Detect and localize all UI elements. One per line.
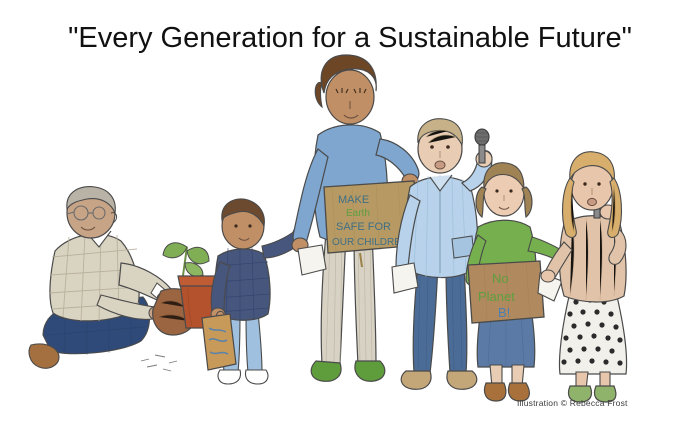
- girl-eye-right: [509, 189, 512, 192]
- boy-shoe-left: [218, 370, 240, 384]
- figure-woman-with-mic: [548, 150, 668, 405]
- girl-eye-left: [495, 189, 498, 192]
- big-placard-line2: Earth: [346, 208, 370, 219]
- boy-eye-right: [248, 224, 251, 227]
- adult-head: [326, 70, 374, 124]
- green-placard-line1: No: [492, 271, 509, 286]
- child-placard: [202, 311, 236, 370]
- man-eye-left: [430, 145, 434, 149]
- adult-shoe-left: [311, 361, 341, 381]
- page-title: "Every Generation for a Sustainable Futu…: [0, 22, 700, 55]
- boy-eye-left: [234, 224, 237, 227]
- poster: "Every Generation for a Sustainable Futu…: [0, 0, 700, 437]
- green-placard-line2: Planet: [478, 289, 515, 304]
- woman-eye-right: [597, 182, 600, 185]
- illustration-credit: Illustration © Rebecca Frost: [517, 398, 628, 408]
- big-placard-line1: MAKE: [338, 194, 369, 206]
- seedling-leaf-left: [163, 243, 187, 258]
- child-placard-board: [202, 314, 236, 370]
- man-shoe-left: [401, 371, 431, 389]
- woman-eye-left: [583, 182, 586, 185]
- adult-paper: [298, 245, 326, 275]
- boy-shoe-right: [246, 370, 268, 384]
- man-paper: [392, 263, 418, 293]
- man-mouth-open: [435, 161, 445, 169]
- adult-shoe-right: [355, 361, 385, 381]
- boy-leg-right: [246, 312, 262, 372]
- man-eye-right: [446, 145, 450, 149]
- girl-hair-bunch-left: [476, 187, 486, 217]
- illustration-scene: MAKE Earth SAFE FOR OUR CHILDREN!: [0, 55, 700, 385]
- woman-mouth-open: [588, 198, 597, 205]
- ground-soil-marks: [141, 355, 177, 371]
- girl-hair-bunch-right: [522, 187, 532, 217]
- girl-boot-left: [484, 383, 505, 401]
- green-placard-line3: B!: [498, 305, 510, 320]
- adult-hair-side: [315, 82, 322, 107]
- woman-hand-left: [541, 270, 555, 282]
- big-placard-line3: SAFE FOR: [336, 221, 391, 233]
- green-placard: No Planet B!: [468, 261, 544, 323]
